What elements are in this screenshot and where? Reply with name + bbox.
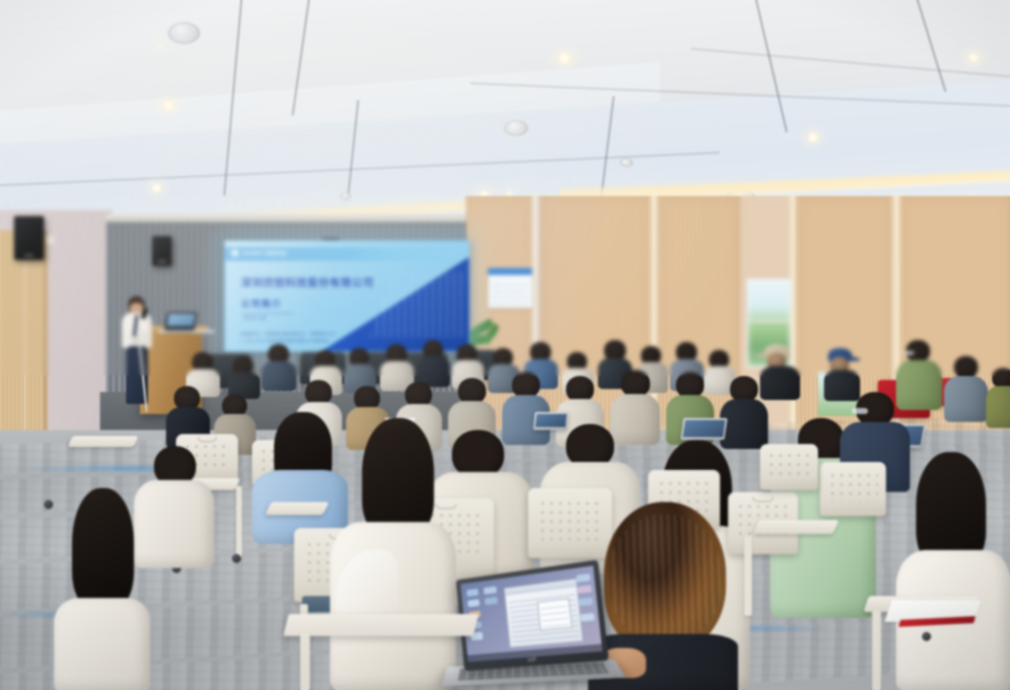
poster-header-bar	[488, 268, 532, 275]
person-hair	[72, 488, 134, 608]
audience-person	[944, 356, 988, 422]
wall-speaker-left	[14, 216, 44, 260]
person-torso	[54, 598, 150, 690]
chair-handle-notch	[198, 437, 217, 442]
chair-caster	[232, 554, 241, 563]
desk-surface	[283, 614, 478, 636]
desktop-icon[interactable]	[483, 586, 496, 595]
screen-glare	[225, 241, 469, 351]
desktop-icon[interactable]	[577, 573, 591, 582]
chair-tablet-arm[interactable]	[753, 520, 839, 534]
wall-speaker-stage-left	[152, 236, 172, 266]
audience-person	[720, 376, 768, 448]
audience-person	[228, 356, 260, 398]
desktop-icon[interactable]	[466, 588, 479, 597]
chair-tablet-arm[interactable]	[265, 502, 329, 515]
audience-person-foreground-cream	[330, 418, 456, 690]
glasses	[904, 351, 914, 355]
desktop-icon[interactable]	[581, 613, 595, 622]
person-torso	[262, 361, 296, 391]
wood-trim	[44, 230, 46, 446]
laptop-screen	[683, 420, 725, 437]
slat-wall-header	[106, 214, 468, 222]
wall-outlet	[46, 236, 54, 244]
wall-poster	[488, 268, 532, 308]
ceiling-downlight	[966, 52, 981, 63]
poster-text-lines	[492, 280, 528, 304]
presenter	[118, 296, 158, 418]
chair-handle-notch	[753, 497, 774, 502]
ceiling-seam	[915, 0, 946, 92]
chair-leg	[872, 610, 881, 690]
chair-leg	[744, 536, 752, 616]
podium-rail	[158, 330, 214, 333]
audience-person	[896, 452, 1010, 690]
wall-led-strip	[792, 196, 794, 446]
ceiling-downlight	[150, 183, 163, 193]
ceiling-speaker	[168, 22, 200, 44]
wall-cable	[24, 232, 26, 446]
desktop-icon[interactable]	[579, 597, 593, 606]
smoke-detector	[620, 158, 633, 167]
application-window[interactable]	[504, 578, 584, 647]
person-hair	[362, 418, 434, 536]
audience-person	[418, 340, 450, 386]
ceiling-downlight	[155, 42, 164, 49]
chair-leg	[236, 486, 242, 558]
audience-person	[54, 488, 150, 690]
hp-logo: HP	[528, 658, 538, 665]
person-torso	[986, 386, 1010, 428]
audience-person	[986, 368, 1010, 428]
dialog-window[interactable]	[537, 598, 572, 630]
glasses	[852, 408, 868, 414]
desktop-icon[interactable]	[484, 597, 497, 606]
person-head	[954, 356, 978, 378]
person-hair	[916, 452, 986, 566]
chair-leg	[300, 632, 310, 690]
audience-person	[262, 344, 296, 390]
ceiling-speaker	[504, 120, 528, 136]
ceiling-downlight	[161, 100, 176, 111]
person-head	[992, 368, 1010, 388]
person-head	[452, 430, 504, 478]
chair-caster	[922, 632, 931, 641]
dialog-content-rows	[540, 602, 569, 627]
chair-caster	[44, 500, 53, 509]
laptop-lid: HP	[456, 560, 609, 671]
podium-laptop	[164, 312, 197, 330]
training-chair[interactable]	[820, 462, 886, 516]
hair-strands	[608, 514, 722, 644]
person-head	[621, 370, 650, 397]
projection-screen[interactable]: SHINRY 欣锐科技 深圳欣锐科技股份有限公司 公司简介 2024.08 新能…	[224, 240, 470, 352]
desktop-icon[interactable]	[467, 599, 480, 608]
desktop-icon[interactable]	[578, 585, 592, 594]
ceiling-downlight	[556, 52, 573, 65]
ceiling-seam	[691, 48, 1010, 78]
presenter-badge	[133, 336, 138, 343]
training-chair[interactable]	[760, 444, 818, 490]
laptop-screen[interactable]	[461, 566, 603, 662]
person-torso	[944, 376, 988, 422]
chair-tablet-arm[interactable]	[68, 436, 139, 447]
podium-laptop-screen	[167, 314, 195, 326]
window-mullion	[748, 320, 790, 322]
chair-back-perforation	[828, 471, 878, 502]
ceiling-downlight	[806, 132, 820, 143]
conference-room-photo: SHINRY 欣锐科技 深圳欣锐科技股份有限公司 公司简介 2024.08 新能…	[0, 0, 1010, 690]
chair-back-perforation	[767, 451, 811, 478]
audience-laptop	[680, 418, 727, 440]
